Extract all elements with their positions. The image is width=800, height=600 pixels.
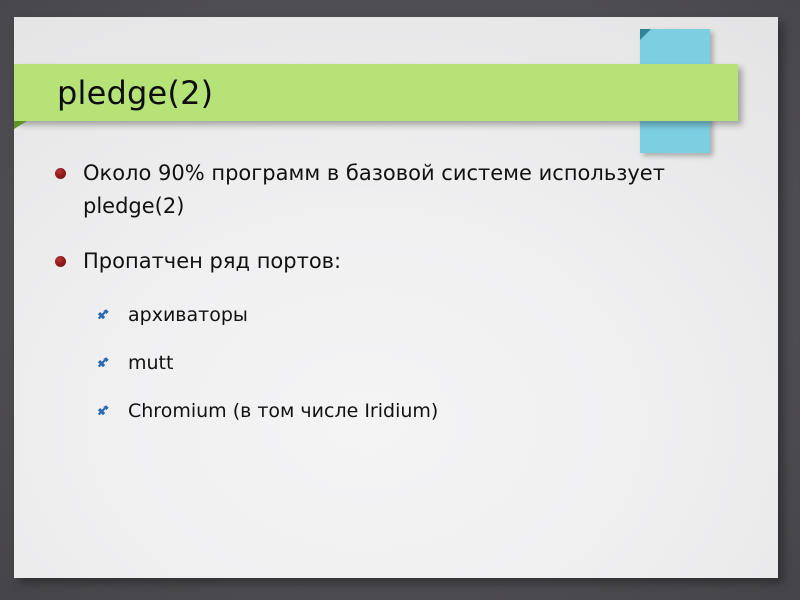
title-band-fold-icon — [14, 121, 27, 129]
round-bullet-icon — [55, 168, 66, 179]
slide-title: pledge(2) — [57, 69, 213, 117]
arrow-bullet-icon — [97, 308, 110, 321]
sub-bullet-item: mutt — [52, 348, 742, 378]
arrow-bullet-icon — [97, 404, 110, 417]
sub-bullet-item: архиваторы — [52, 300, 742, 330]
slide-content: Около 90% программ в базовой системе исп… — [52, 157, 742, 444]
sub-bullet-list: архиваторы mutt — [52, 300, 742, 426]
slide-viewer: pledge(2) Около 90% программ в базовой с… — [0, 0, 800, 600]
sub-bullet-text: Chromium (в том числе Iridium) — [128, 400, 438, 422]
bullet-text: Пропатчен ряд портов: — [83, 249, 341, 273]
round-bullet-icon — [55, 256, 66, 267]
slide-canvas: pledge(2) Около 90% программ в базовой с… — [14, 17, 778, 578]
bullet-text: Около 90% программ в базовой системе исп… — [83, 161, 665, 218]
sub-bullet-text: mutt — [128, 352, 173, 374]
decorative-cyan-fold-icon — [640, 29, 651, 40]
bullet-item: Около 90% программ в базовой системе исп… — [52, 157, 713, 223]
arrow-bullet-icon — [97, 356, 110, 369]
sub-bullet-text: архиваторы — [128, 304, 248, 326]
bullet-item: Пропатчен ряд портов: — [52, 245, 713, 278]
sub-bullet-item: Chromium (в том числе Iridium) — [52, 396, 742, 426]
